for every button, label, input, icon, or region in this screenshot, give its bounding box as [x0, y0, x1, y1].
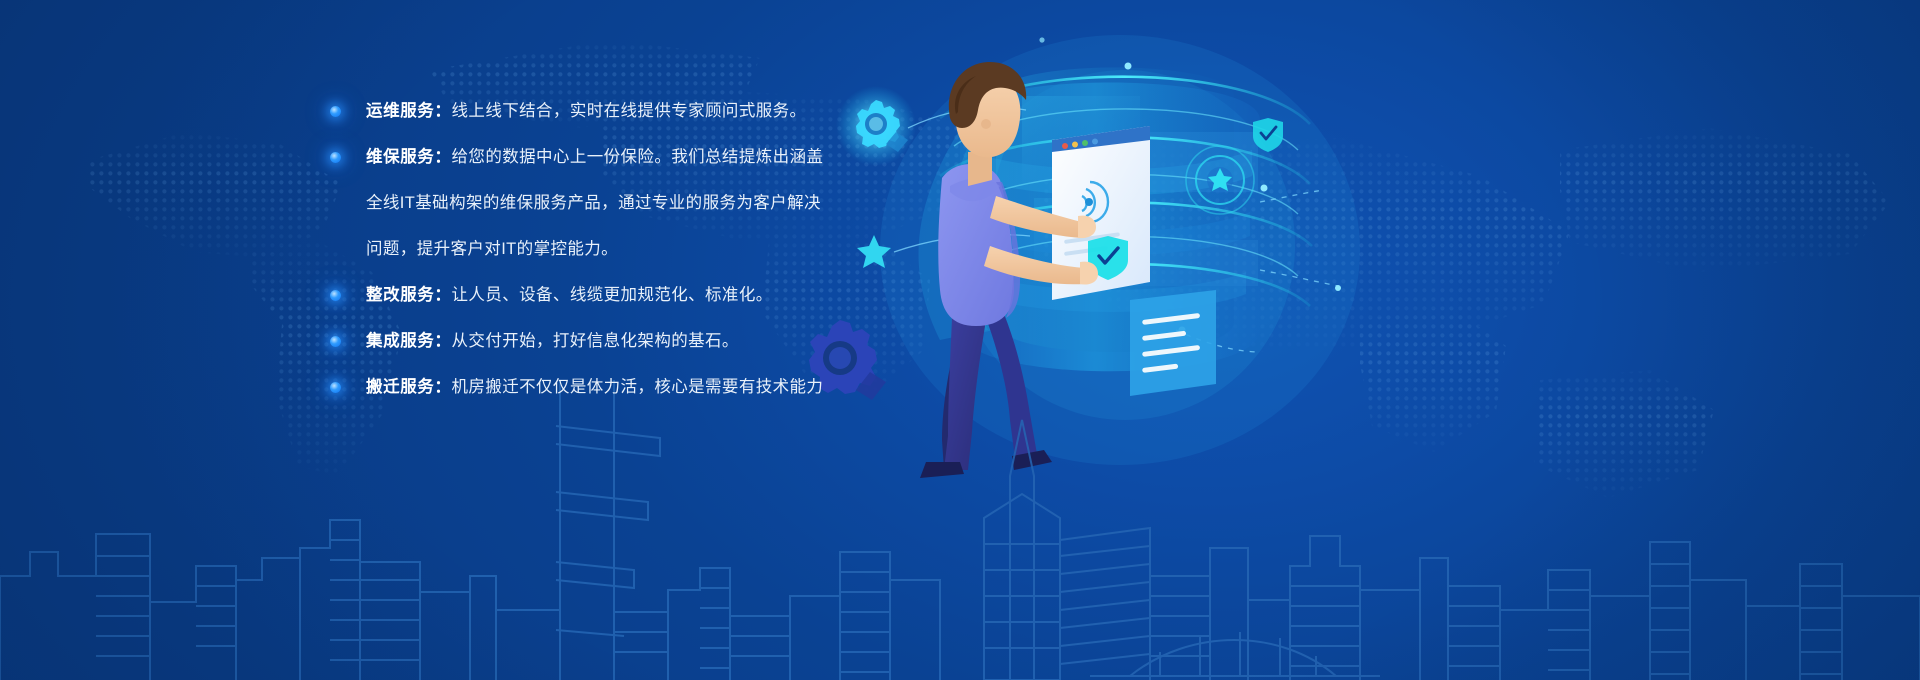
service-body: 从交付开始，打好信息化架构的基石。	[452, 332, 739, 350]
service-body: 问题，提升客户对IT的掌控能力。	[366, 240, 618, 258]
list-item-continuation: 问题，提升客户对IT的掌控能力。	[330, 234, 800, 280]
service-label: 集成服务	[366, 332, 434, 350]
service-list: 运维服务：线上线下结合，实时在线提供专家顾问式服务。 维保服务：给您的数据中心上…	[330, 96, 800, 418]
service-body: 让人员、设备、线缆更加规范化、标准化。	[452, 286, 773, 304]
service-separator: ：	[434, 102, 451, 120]
list-item: 运维服务：线上线下结合，实时在线提供专家顾问式服务。	[330, 96, 800, 142]
list-item: 维保服务：给您的数据中心上一份保险。我们总结提炼出涵盖	[330, 142, 800, 188]
service-body: 给您的数据中心上一份保险。我们总结提炼出涵盖	[452, 148, 824, 166]
list-item: 集成服务：从交付开始，打好信息化架构的基石。	[330, 326, 800, 372]
service-body: 全线IT基础构架的维保服务产品，通过专业的服务为客户解决	[366, 194, 821, 212]
list-item-continuation: 全线IT基础构架的维保服务产品，通过专业的服务为客户解决	[330, 188, 800, 234]
service-label: 运维服务	[366, 102, 434, 120]
service-separator: ：	[434, 286, 451, 304]
bullet-dot-icon	[330, 142, 366, 172]
service-label: 搬迁服务	[366, 378, 434, 396]
service-body: 机房搬迁不仅仅是体力活，核心是需要有技术能力	[452, 378, 824, 396]
service-separator: ：	[434, 378, 451, 396]
service-label: 整改服务	[366, 286, 434, 304]
list-item: 整改服务：让人员、设备、线缆更加规范化、标准化。	[330, 280, 800, 326]
bullet-dot-icon	[330, 326, 366, 356]
background-vignette	[0, 0, 1920, 680]
service-label: 维保服务	[366, 148, 434, 166]
list-item: 搬迁服务：机房搬迁不仅仅是体力活，核心是需要有技术能力	[330, 372, 800, 418]
service-separator: ：	[434, 148, 451, 166]
bullet-dot-icon	[330, 280, 366, 310]
bullet-dot-icon	[330, 372, 366, 402]
hero-banner: 运维服务：线上线下结合，实时在线提供专家顾问式服务。 维保服务：给您的数据中心上…	[0, 0, 1920, 680]
service-body: 线上线下结合，实时在线提供专家顾问式服务。	[452, 102, 807, 120]
bullet-dot-icon	[330, 96, 366, 126]
service-separator: ：	[434, 332, 451, 350]
